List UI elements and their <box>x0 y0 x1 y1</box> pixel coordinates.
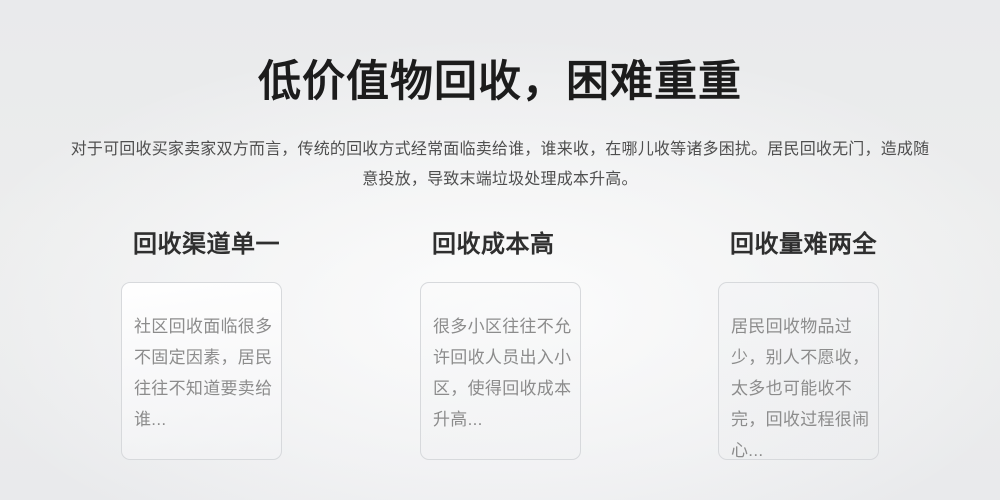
problem-card-2-body: 很多小区往往不允许回收人员出入小区，使得回收成本升高... <box>433 311 573 435</box>
problem-card-1-box: 社区回收面临很多不固定因素，居民往往不知道要卖给谁... <box>121 282 282 460</box>
page-subtitle: 对于可回收买家卖家双方而言，传统的回收方式经常面临卖给谁，谁来收，在哪儿收等诸多… <box>68 135 932 195</box>
page-root: 低价值物回收，困难重重 对于可回收买家卖家双方而言，传统的回收方式经常面临卖给谁… <box>0 0 1000 500</box>
problem-card-2-heading: 回收成本高 <box>432 228 555 262</box>
problem-card-3-heading: 回收量难两全 <box>730 228 877 262</box>
problem-card-3-box: 居民回收物品过少，别人不愿收，太多也可能收不完，回收过程很闹心... <box>718 282 879 460</box>
problem-card-2-box: 很多小区往往不允许回收人员出入小区，使得回收成本升高... <box>420 282 581 460</box>
problem-card-3-body: 居民回收物品过少，别人不愿收，太多也可能收不完，回收过程很闹心... <box>731 311 871 466</box>
page-title: 低价值物回收，困难重重 <box>0 55 1000 109</box>
problem-card-1-body: 社区回收面临很多不固定因素，居民往往不知道要卖给谁... <box>134 311 274 435</box>
problem-cards-row: 回收渠道单一 社区回收面临很多不固定因素，居民往往不知道要卖给谁... 回收成本… <box>0 228 1000 478</box>
problem-card-1-heading: 回收渠道单一 <box>133 228 280 262</box>
